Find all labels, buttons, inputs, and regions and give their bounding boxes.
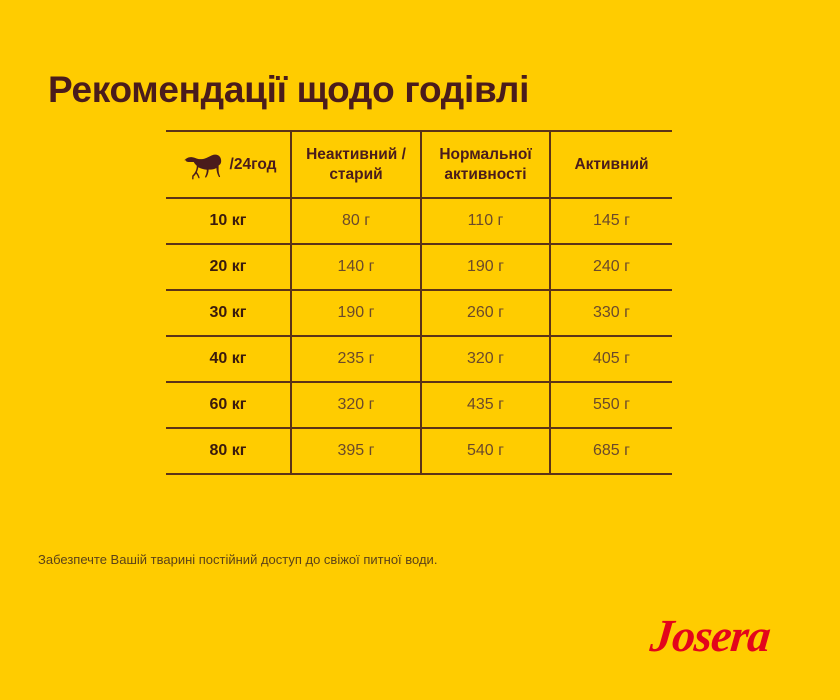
cell-inactive: 320 г bbox=[291, 382, 421, 428]
cell-inactive: 235 г bbox=[291, 336, 421, 382]
table-row: 30 кг 190 г 260 г 330 г bbox=[166, 290, 672, 336]
column-header-inactive: Неактивний / старий bbox=[291, 131, 421, 198]
column-header-weight: /24год bbox=[166, 131, 291, 198]
water-access-note: Забезпечте Вашій тварині постійний досту… bbox=[38, 552, 437, 567]
cell-active: 405 г bbox=[550, 336, 672, 382]
cell-inactive: 190 г bbox=[291, 290, 421, 336]
table-row: 40 кг 235 г 320 г 405 г bbox=[166, 336, 672, 382]
column-header-active: Активний bbox=[550, 131, 672, 198]
cell-weight: 60 кг bbox=[166, 382, 291, 428]
feeding-table-grid: /24год Неактивний / старий Нормальної ак… bbox=[166, 130, 672, 475]
cell-active: 330 г bbox=[550, 290, 672, 336]
column-header-active-label: Активний bbox=[574, 156, 648, 173]
page-title: Рекомендації щодо годівлі bbox=[48, 69, 529, 112]
column-header-normal: Нормальної активності bbox=[421, 131, 550, 198]
feeding-table: /24год Неактивний / старий Нормальної ак… bbox=[166, 130, 672, 475]
cell-weight: 40 кг bbox=[166, 336, 291, 382]
column-header-inactive-line2: старий bbox=[329, 166, 382, 183]
cell-active: 685 г bbox=[550, 428, 672, 474]
cell-normal: 435 г bbox=[421, 382, 550, 428]
column-header-unit-label: /24год bbox=[230, 155, 277, 174]
cell-normal: 540 г bbox=[421, 428, 550, 474]
cell-normal: 110 г bbox=[421, 198, 550, 244]
table-row: 80 кг 395 г 540 г 685 г bbox=[166, 428, 672, 474]
cell-active: 550 г bbox=[550, 382, 672, 428]
table-row: 10 кг 80 г 110 г 145 г bbox=[166, 198, 672, 244]
table-row: 60 кг 320 г 435 г 550 г bbox=[166, 382, 672, 428]
cell-active: 240 г bbox=[550, 244, 672, 290]
table-header-row: /24год Неактивний / старий Нормальної ак… bbox=[166, 131, 672, 198]
cell-inactive: 140 г bbox=[291, 244, 421, 290]
dog-icon bbox=[180, 149, 228, 181]
cell-weight: 30 кг bbox=[166, 290, 291, 336]
cell-normal: 190 г bbox=[421, 244, 550, 290]
cell-active: 145 г bbox=[550, 198, 672, 244]
cell-normal: 260 г bbox=[421, 290, 550, 336]
cell-weight: 80 кг bbox=[166, 428, 291, 474]
cell-normal: 320 г bbox=[421, 336, 550, 382]
cell-weight: 20 кг bbox=[166, 244, 291, 290]
cell-inactive: 395 г bbox=[291, 428, 421, 474]
column-header-normal-line2: активності bbox=[444, 166, 526, 183]
feeding-recommendation-page: Рекомендації щодо годівлі bbox=[0, 0, 840, 700]
table-row: 20 кг 140 г 190 г 240 г bbox=[166, 244, 672, 290]
column-header-inactive-line1: Неактивний / bbox=[306, 146, 406, 163]
josera-logo-text: Josera bbox=[648, 612, 809, 660]
column-header-normal-line1: Нормальної bbox=[439, 146, 531, 163]
cell-weight: 10 кг bbox=[166, 198, 291, 244]
cell-inactive: 80 г bbox=[291, 198, 421, 244]
josera-logo: Josera bbox=[648, 612, 804, 660]
